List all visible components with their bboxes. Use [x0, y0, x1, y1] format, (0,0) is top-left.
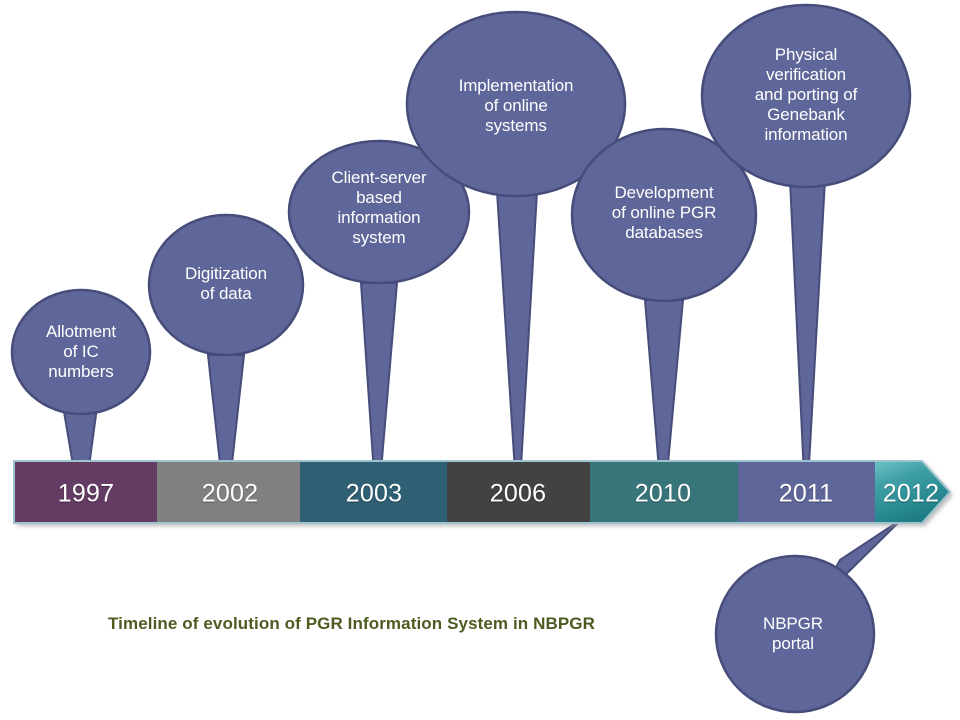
timeline-segment-2010[interactable]	[590, 461, 738, 523]
bubble-1997[interactable]	[12, 290, 150, 414]
bubble-2002[interactable]	[149, 215, 303, 355]
timeline-figure: Allotment of IC numbers Digitization of …	[0, 0, 960, 720]
callout-bubbles	[12, 5, 910, 712]
bubble-2011[interactable]	[702, 5, 910, 187]
timeline-segment-1997[interactable]	[14, 461, 157, 523]
timeline-segment-2003[interactable]	[300, 461, 447, 523]
bubble-2012[interactable]	[716, 556, 874, 712]
timeline-segment-2006[interactable]	[447, 461, 590, 523]
timeline-diagram-svg	[0, 0, 960, 720]
timeline-segment-2011[interactable]	[738, 461, 875, 523]
timeline-bar	[14, 461, 950, 523]
timeline-segment-2012[interactable]	[875, 461, 950, 523]
figure-caption: Timeline of evolution of PGR Information…	[108, 614, 595, 634]
timeline-segment-2002[interactable]	[157, 461, 300, 523]
